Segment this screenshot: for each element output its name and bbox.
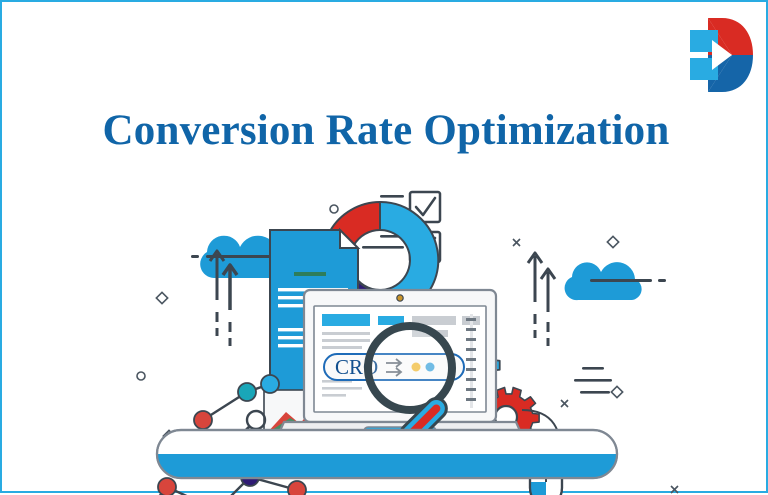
text-lines-right bbox=[574, 367, 612, 394]
page-root: Conversion Rate Optimization bbox=[0, 0, 768, 493]
logo-svg bbox=[688, 16, 754, 94]
page-title: Conversion Rate Optimization bbox=[2, 106, 768, 155]
arrow-up-right bbox=[528, 253, 555, 346]
d-letter-logo bbox=[688, 16, 754, 94]
illustration-svg: CRO bbox=[2, 162, 768, 495]
desk-platform bbox=[157, 430, 617, 478]
cro-illustration: CRO bbox=[2, 162, 768, 495]
cloud-right bbox=[565, 262, 666, 300]
